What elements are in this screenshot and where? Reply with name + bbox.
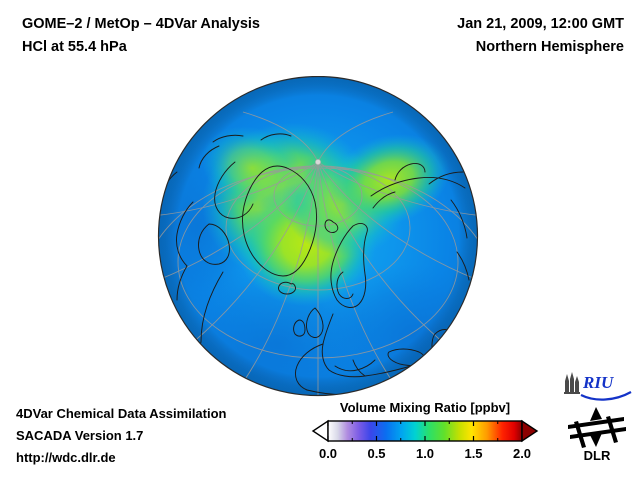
colorbar: Volume Mixing Ratio [ppbv] 0.00.51.01.52… bbox=[310, 400, 540, 464]
header-right-block: Jan 21, 2009, 12:00 GMT Northern Hemisph… bbox=[457, 13, 624, 59]
colorbar-tick-label: 1.5 bbox=[464, 446, 482, 461]
colorbar-tick-label: 1.0 bbox=[416, 446, 434, 461]
riu-wordmark: RIU bbox=[582, 373, 614, 392]
footer-line-1: 4DVar Chemical Data Assimilation bbox=[16, 403, 227, 425]
colorbar-tick-label: 0.5 bbox=[367, 446, 385, 461]
riu-logo: RIU bbox=[561, 371, 633, 401]
footer-line-2: SACADA Version 1.7 bbox=[16, 425, 227, 447]
colorbar-tick-labels: 0.00.51.01.52.0 bbox=[310, 446, 540, 464]
timestamp-label: Jan 21, 2009, 12:00 GMT bbox=[457, 13, 624, 36]
dlr-logo: DLR bbox=[566, 407, 628, 463]
riu-tower-icon bbox=[564, 372, 580, 394]
globe-map bbox=[157, 76, 479, 398]
colorbar-tick-label: 0.0 bbox=[319, 446, 337, 461]
north-pole-marker bbox=[315, 159, 320, 164]
colorbar-right-cap-icon bbox=[522, 421, 537, 441]
colorbar-left-cap-icon bbox=[313, 421, 328, 441]
riu-swoosh-icon bbox=[581, 392, 631, 400]
dlr-wordmark: DLR bbox=[584, 448, 611, 463]
colorbar-title: Volume Mixing Ratio [ppbv] bbox=[310, 400, 540, 415]
footer-line-3: http://wdc.dlr.de bbox=[16, 447, 227, 469]
header-left-block: GOME–2 / MetOp – 4DVar Analysis HCl at 5… bbox=[22, 13, 260, 59]
title-line-1: GOME–2 / MetOp – 4DVar Analysis bbox=[22, 13, 260, 36]
colorbar-tick-label: 2.0 bbox=[513, 446, 531, 461]
title-line-2: HCl at 55.4 hPa bbox=[22, 36, 260, 59]
footer-text-block: 4DVar Chemical Data Assimilation SACADA … bbox=[16, 403, 227, 469]
hemisphere-label: Northern Hemisphere bbox=[457, 36, 624, 59]
dlr-mark-icon bbox=[568, 407, 626, 448]
colorbar-scale bbox=[310, 419, 540, 445]
